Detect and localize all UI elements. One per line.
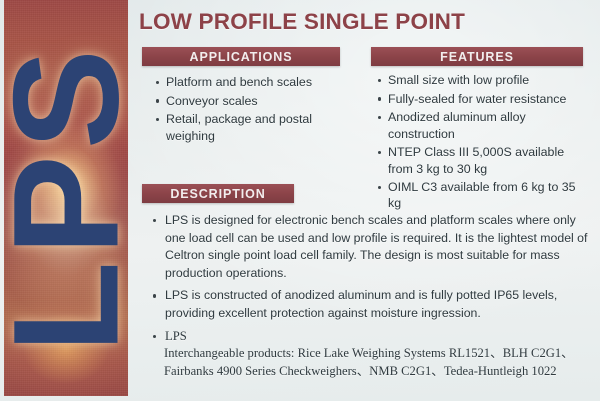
description-list: LPS is designed for electronic bench sca…: [152, 212, 596, 385]
list-item: NTEP Class III 5,000S available from 3 k…: [377, 144, 592, 176]
page-title: LOW PROFILE SINGLE POINT: [139, 9, 465, 35]
list-item: Small size with low profile: [377, 72, 592, 88]
list-item: Retail, package and postal weighing: [155, 111, 345, 143]
list-item: Anodized aluminum alloy construction: [377, 109, 592, 141]
side-product-label: LPS: [4, 43, 128, 353]
interchange-line-2: Fairbanks 4900 Series Checkweighers、NMB …: [164, 363, 596, 380]
list-item: LPS is constructed of anodized aluminum …: [152, 287, 596, 322]
section-header-applications: APPLICATIONS: [142, 47, 340, 66]
list-item: Fully-sealed for water resistance: [377, 91, 592, 107]
list-item: LPS is designed for electronic bench sca…: [152, 212, 596, 282]
interchange-line-1: Interchangeable products: Rice Lake Weig…: [164, 345, 596, 362]
section-header-features: FEATURES: [371, 47, 583, 66]
section-header-description: DESCRIPTION: [142, 184, 294, 203]
content-area: LOW PROFILE SINGLE POINT APPLICATIONS FE…: [134, 0, 600, 401]
applications-list: Platform and bench scales Conveyor scale…: [155, 74, 345, 146]
features-list: Small size with low profile Fully-sealed…: [377, 72, 592, 214]
list-item: Platform and bench scales: [155, 74, 345, 90]
list-item: OIML C3 available from 6 kg to 35 kg: [377, 179, 592, 211]
datasheet-page: LPS LOW PROFILE SINGLE POINT APPLICATION…: [0, 0, 600, 401]
product-side-banner: LPS: [4, 0, 128, 396]
list-item: Conveyor scales: [155, 93, 345, 109]
interchange-label: LPS: [165, 329, 187, 343]
list-item-interchangeable: LPS Interchangeable products: Rice Lake …: [152, 328, 596, 380]
